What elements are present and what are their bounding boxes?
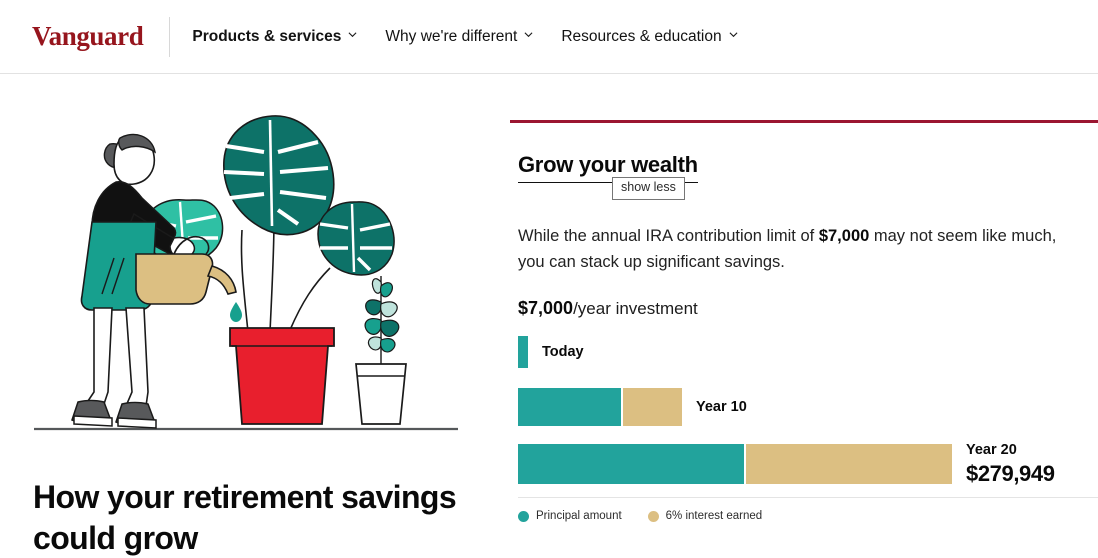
legend-label: 6% interest earned [666, 510, 763, 522]
bar-stack-today [518, 336, 528, 368]
chevron-down-icon [348, 30, 357, 39]
nav-label: Why we're different [385, 28, 517, 46]
legend-swatch-icon [648, 511, 659, 522]
left-column: How your retirement savings could grow [0, 74, 500, 544]
panel-accent-rule [510, 120, 1098, 123]
chart-bar-year-20: Year 20 $279,949 [518, 444, 1055, 484]
header-divider [169, 17, 170, 57]
bar-label-year-20: Year 20 $279,949 [966, 441, 1055, 488]
bar-category-label: Year 20 [966, 442, 1017, 458]
vanguard-logo[interactable]: Vanguard [32, 23, 143, 50]
chevron-down-icon [729, 30, 738, 39]
bar-segment-interest [746, 444, 952, 484]
woman-watering-plant-illustration [34, 102, 458, 447]
savings-growth-bar-chart: Today Year 10 Year 20 $279,949 [518, 336, 1098, 506]
nav-item-why-were-different[interactable]: Why we're different [385, 28, 533, 46]
bar-label-year-10: Year 10 [696, 398, 747, 416]
bar-segment-principal [518, 336, 528, 368]
legend-swatch-icon [518, 511, 529, 522]
legend-item-principal: Principal amount [518, 510, 622, 522]
nav-item-products-services[interactable]: Products & services [192, 28, 357, 46]
bar-stack-year-20 [518, 444, 952, 484]
chart-legend: Principal amount 6% interest earned [518, 510, 762, 522]
chart-bar-year-10: Year 10 [518, 388, 747, 426]
bar-segment-interest [623, 388, 682, 426]
primary-nav: Products & services Why we're different … [192, 28, 737, 46]
bar-stack-year-10 [518, 388, 682, 426]
bar-segment-principal [518, 388, 621, 426]
bar-value-label: $279,949 [966, 460, 1055, 488]
panel-description: While the annual IRA contribution limit … [518, 223, 1086, 275]
investment-suffix: /year investment [573, 299, 698, 318]
page-title: How your retirement savings could grow [33, 477, 463, 558]
chevron-down-icon [524, 30, 533, 39]
bar-segment-principal [518, 444, 744, 484]
grow-your-wealth-panel: Grow your wealth show less While the ann… [510, 74, 1098, 544]
show-less-tooltip: show less [612, 177, 685, 200]
nav-label: Products & services [192, 28, 341, 46]
panel-description-before: While the annual IRA contribution limit … [518, 227, 819, 245]
bar-category-label: Year 10 [696, 399, 747, 415]
panel-description-amount: $7,000 [819, 227, 869, 245]
legend-divider [518, 497, 1098, 498]
site-header: Vanguard Products & services Why we're d… [0, 0, 1098, 74]
bar-label-today: Today [542, 343, 584, 361]
legend-label: Principal amount [536, 510, 622, 522]
chart-bar-today: Today [518, 336, 584, 368]
bar-category-label: Today [542, 344, 584, 360]
legend-item-interest: 6% interest earned [648, 510, 763, 522]
investment-subtitle: $7,000/year investment [518, 298, 698, 319]
nav-item-resources-education[interactable]: Resources & education [561, 28, 737, 46]
nav-label: Resources & education [561, 28, 721, 46]
investment-amount: $7,000 [518, 298, 573, 318]
